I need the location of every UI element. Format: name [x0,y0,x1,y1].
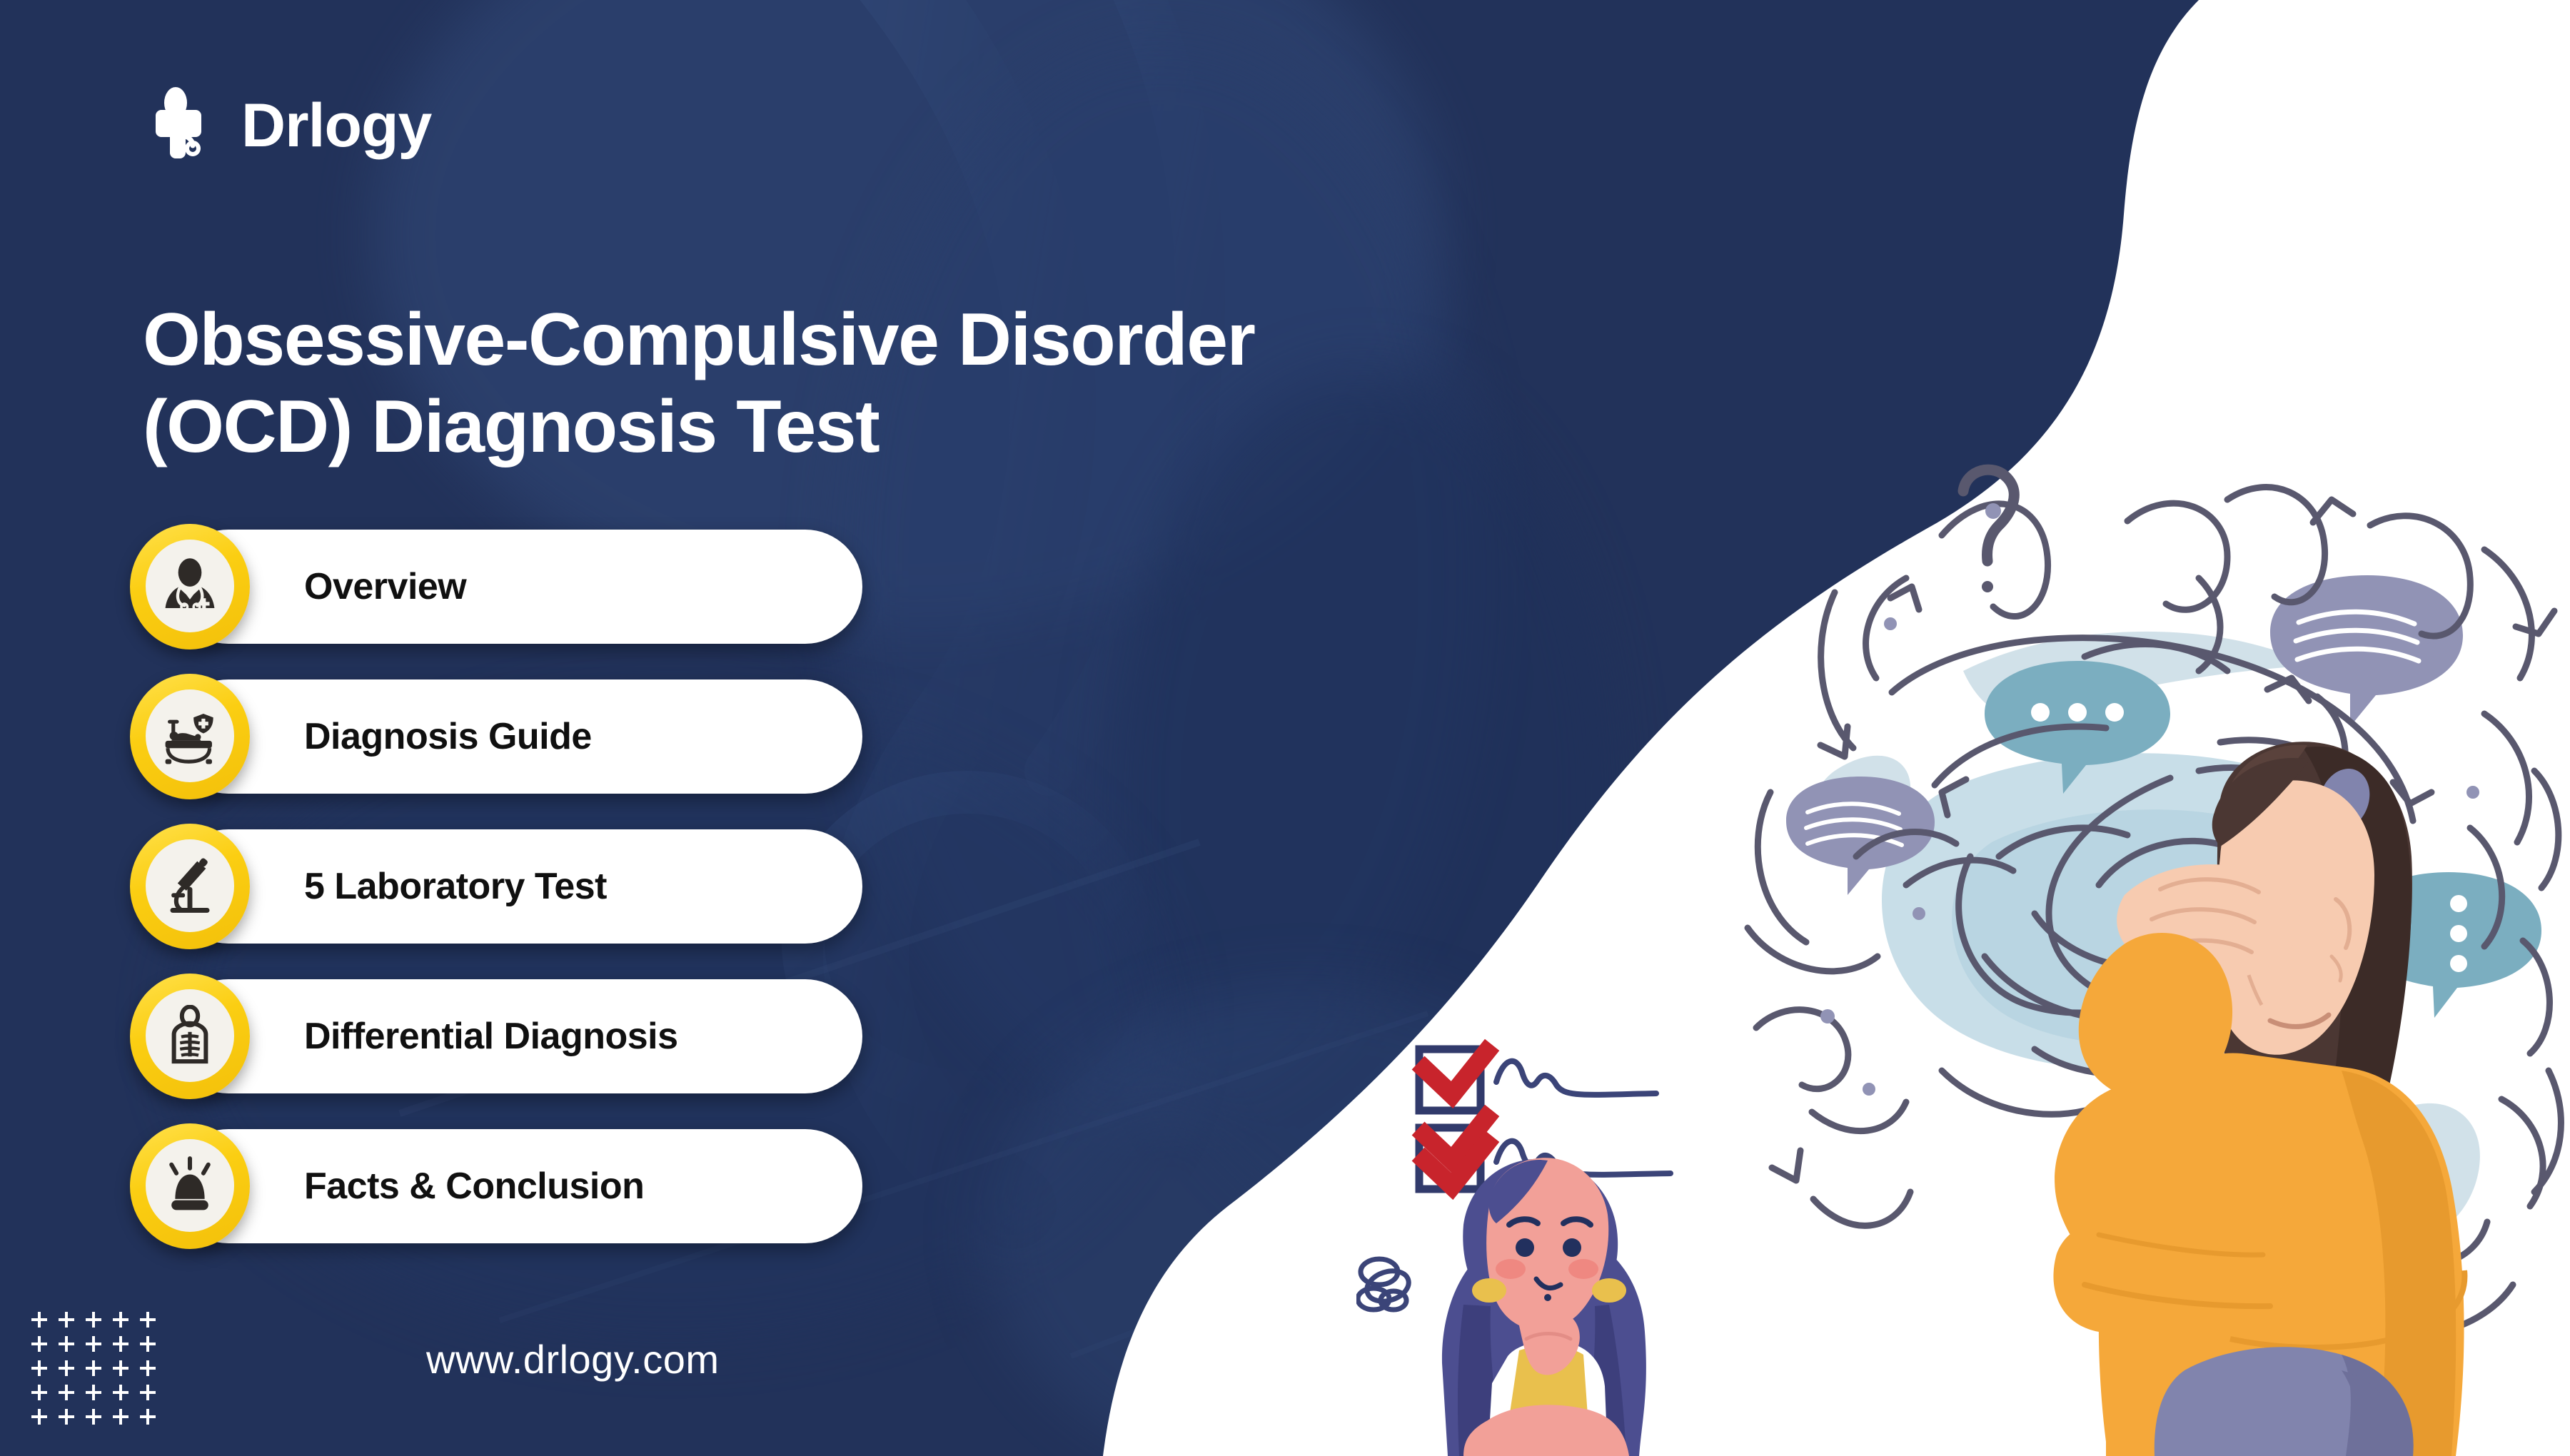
pill-background [171,530,862,644]
website-url[interactable]: www.drlogy.com [426,1336,720,1382]
page-title-line-1: Obsessive-Compulsive Disorder [143,298,1255,381]
sidebar-item-label: Diagnosis Guide [304,679,592,794]
stressed-woman-illustration [1728,457,2570,1456]
page-title-line-2: (OCD) Diagnosis Test [143,385,879,468]
chest-xray-icon [146,989,234,1082]
badge-diagnosis-guide [127,672,253,801]
sidebar-item-overview[interactable]: Overview [127,522,862,651]
siren-alarm-icon [146,1139,234,1232]
plus-pattern-decoration [31,1312,167,1435]
brand-logo[interactable]: Drlogy [140,87,431,164]
sidebar-item-label: Overview [304,530,466,644]
page-title: Obsessive-Compulsive Disorder (OCD) Diag… [143,296,1828,471]
badge-facts-conclusion [127,1122,253,1250]
scribble-cloud [1358,1259,1413,1310]
sidebar-item-laboratory-test[interactable]: 5 Laboratory Test [127,822,862,951]
badge-differential-diagnosis [127,972,253,1101]
sidebar-item-facts-conclusion[interactable]: Facts & Conclusion [127,1122,862,1250]
sidebar-item-label: 5 Laboratory Test [304,829,607,944]
medical-cross-stethoscope-icon [140,87,217,164]
sidebar-item-label: Differential Diagnosis [304,979,678,1093]
microscope-icon [146,839,234,932]
section-menu-list: Overview [127,522,862,1272]
badge-overview [127,522,253,651]
patient-bed-shield-icon [146,689,234,782]
brand-name: Drlogy [241,95,431,156]
doctor-stethoscope-icon [146,540,234,632]
sidebar-item-diagnosis-guide[interactable]: Diagnosis Guide [127,672,862,801]
sidebar-item-differential-diagnosis[interactable]: Differential Diagnosis [127,972,862,1101]
girl-figure [1442,1158,1646,1456]
question-mark-glyph [1963,470,2014,592]
sidebar-item-label: Facts & Conclusion [304,1129,644,1243]
poster-canvas: Drlogy Obsessive-Compulsive Disorder (OC… [0,0,2570,1456]
badge-laboratory-test [127,822,253,951]
